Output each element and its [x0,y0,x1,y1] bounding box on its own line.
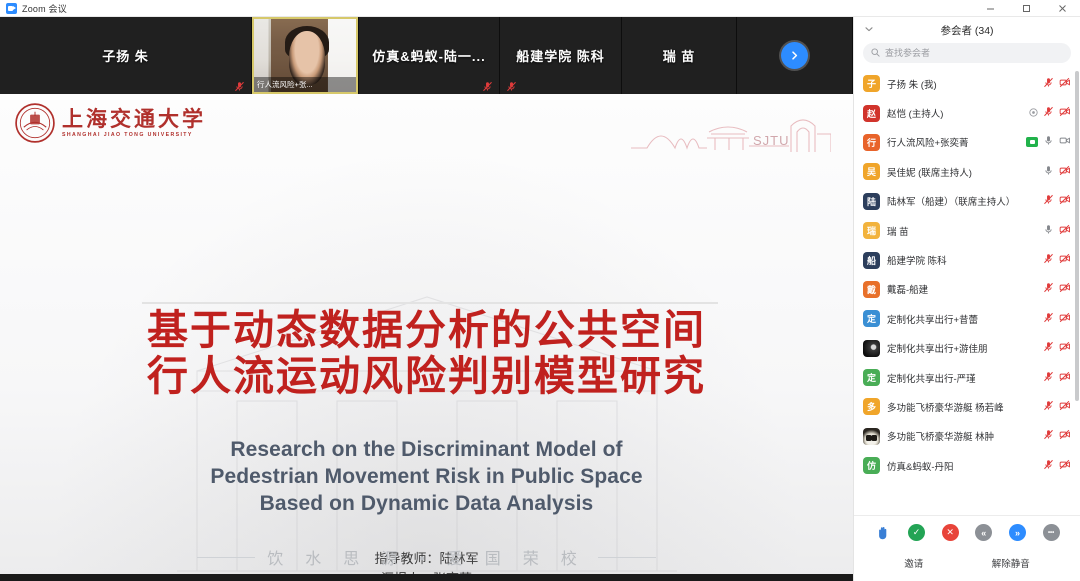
reaction-buttons: ✓✕«»••• [854,524,1080,541]
video-strip-next-page[interactable] [737,17,853,94]
slide-title-en-line1: Research on the Discriminant Model of [0,437,853,464]
participant-name: 陆林军（船建）（联席主持人） [887,194,1036,208]
video-off-icon[interactable] [1059,398,1071,416]
video-tile[interactable]: 船建学院 陈科 [500,17,622,94]
participant-name: 定制化共享出行+昔蕾 [887,312,1036,326]
unmute-all-button[interactable]: 解除静音 [986,554,1036,572]
video-tile[interactable]: 仿真&蚂蚁-陆一... [359,17,500,94]
video-tile-name: 子扬 朱 [102,46,149,65]
participant-name: 戴磊-船建 [887,282,1036,296]
participants-search [854,43,1080,69]
shared-screen-slide: 上海交通大学 SHANGHAI JIAO TONG UNIVERSITY SJT… [0,94,853,581]
host-indicator-icon [1029,104,1038,122]
participant-avatar: 多 [863,398,880,415]
no-button[interactable]: ✕ [942,524,959,541]
participant-row[interactable]: 定定制化共享出行-严瑾 [854,363,1080,392]
participant-row[interactable]: 行行人流风险+张奕菁 [854,128,1080,157]
chevron-right-icon[interactable] [781,42,808,69]
video-off-icon[interactable] [1059,427,1071,445]
screen-share-icon [1026,137,1038,147]
sjtu-logo-en: SHANGHAI JIAO TONG UNIVERSITY [62,132,206,138]
video-tile-active-speaker[interactable]: 行人流风险+张... [252,17,359,94]
slide-title-cn: 基于动态数据分析的公共空间 行人流运动风险判别模型研究 [0,308,853,400]
participant-row[interactable]: 定定制化共享出行+昔蕾 [854,304,1080,333]
window-title: Zoom 会议 [22,2,67,15]
svg-text:SJTU: SJTU [753,133,790,148]
participant-name: 赵恺 (主持人) [887,106,1022,120]
motto-text: 饮 水 思 源 • 爱 国 荣 校 [267,545,586,569]
participant-name: 瑞 苗 [887,224,1036,238]
video-off-icon[interactable] [1059,457,1071,475]
mic-muted-icon[interactable] [1043,457,1054,475]
zoom-meeting-window: Zoom 会议 子扬 朱 [0,0,1080,581]
mic-muted-icon[interactable] [1043,104,1054,122]
more-button[interactable]: ••• [1043,524,1060,541]
participant-name: 吴佳妮 (联席主持人) [887,165,1036,179]
video-tile-name: 行人流风险+张... [254,77,356,92]
mic-muted-icon [234,79,245,90]
participant-row[interactable]: 陆陆林军（船建）（联席主持人） [854,187,1080,216]
participant-name: 船建学院 陈科 [887,253,1036,267]
search-icon [871,44,880,62]
faster-button[interactable]: » [1009,524,1026,541]
mic-muted-icon[interactable] [1043,369,1054,387]
slower-button[interactable]: « [975,524,992,541]
mic-muted-icon[interactable] [1043,398,1054,416]
participants-scrollbar[interactable] [1075,71,1079,401]
participant-name: 多功能飞桥豪华游艇 林肿 [887,429,1036,443]
participant-avatar: 子 [863,75,880,92]
maximize-button[interactable] [1008,0,1044,17]
mic-muted-icon[interactable] [1043,75,1054,93]
mic-on-icon[interactable] [1043,133,1054,151]
video-off-icon[interactable] [1059,192,1071,210]
mic-muted-icon[interactable] [1043,280,1054,298]
search-input[interactable] [885,48,1063,58]
slide-title-cn-line2: 行人流运动风险判别模型研究 [0,354,853,400]
video-tile[interactable]: 瑞 苗 [622,17,737,94]
participant-row[interactable]: 船船建学院 陈科 [854,245,1080,274]
video-tile[interactable]: 子扬 朱 [0,17,252,94]
sjtu-seal-icon [14,102,56,144]
participant-row[interactable]: 仿仿真&蚂蚁-丹阳 [854,451,1080,480]
mic-muted-icon[interactable] [1043,310,1054,328]
slide-building-watermark [77,251,777,581]
participant-avatar: 行 [863,134,880,151]
participant-name: 定制化共享出行+游佳朋 [887,341,1036,355]
participant-avatar: 定 [863,310,880,327]
participant-name: 定制化共享出行-严瑾 [887,371,1036,385]
minimize-button[interactable] [972,0,1008,17]
zoom-icon [6,3,17,14]
participant-avatar: 船 [863,252,880,269]
participants-panel-title: 参会者 (34) [854,23,1080,38]
video-tile-name: 瑞 苗 [663,46,696,65]
participant-row[interactable]: 子子扬 朱 (我) [854,69,1080,98]
mic-muted-icon[interactable] [1043,251,1054,269]
participant-row[interactable]: 瑞瑞 苗 [854,216,1080,245]
slide-title-cn-line1: 基于动态数据分析的公共空间 [0,308,853,354]
chevron-down-icon[interactable] [864,21,874,39]
title-divider [142,302,718,304]
participants-panel: 参会者 (34) 子子扬 朱 (我)赵赵恺 (主持人)行行人流风险+张奕菁吴吴佳… [853,17,1080,581]
video-off-icon[interactable] [1059,163,1071,181]
participant-avatar: 陆 [863,193,880,210]
video-off-icon[interactable] [1059,75,1071,93]
participant-name: 行人流风险+张奕菁 [887,135,1019,149]
video-off-icon[interactable] [1059,104,1071,122]
yes-button[interactable]: ✓ [908,524,925,541]
participant-avatar: 戴 [863,281,880,298]
participant-row[interactable]: 多多功能飞桥豪华游艇 杨若峰 [854,392,1080,421]
participant-name: 仿真&蚂蚁-丹阳 [887,459,1036,473]
mic-muted-icon [506,79,517,90]
participant-avatar [863,428,880,445]
participant-avatar: 吴 [863,163,880,180]
window-title-bar: Zoom 会议 [0,0,1080,17]
video-on-icon[interactable] [1059,133,1071,151]
participants-list[interactable]: 子子扬 朱 (我)赵赵恺 (主持人)行行人流风险+张奕菁吴吴佳妮 (联席主持人)… [854,69,1080,516]
mic-on-icon[interactable] [1043,163,1054,181]
motto-divider-right [598,557,656,558]
sjtu-logo: 上海交通大学 SHANGHAI JIAO TONG UNIVERSITY [14,102,206,144]
slide-title-en: Research on the Discriminant Model of Pe… [0,437,853,518]
search-box[interactable] [863,43,1071,63]
slide-bottom-bar [0,574,853,581]
participant-name: 多功能飞桥豪华游艇 杨若峰 [887,400,1036,414]
slide-title-en-line2: Pedestrian Movement Risk in Public Space [0,464,853,491]
invite-button[interactable]: 邀请 [898,554,929,572]
slide-title-en-line3: Based on Dynamic Data Analysis [0,491,853,518]
video-off-icon[interactable] [1059,369,1071,387]
video-thumbnail-strip: 子扬 朱 行人流风险+张... 仿真&蚂蚁-陆一... [0,17,853,94]
mic-muted-icon[interactable] [1043,339,1054,357]
participants-panel-header: 参会者 (34) [854,17,1080,43]
participant-avatar: 瑞 [863,222,880,239]
mic-on-icon[interactable] [1043,222,1054,240]
sjtu-landmark-art: SJTU [631,108,831,156]
participant-name: 子扬 朱 (我) [887,77,1036,91]
video-off-icon[interactable] [1059,310,1071,328]
video-off-icon[interactable] [1059,339,1071,357]
participant-avatar: 定 [863,369,880,386]
participant-row[interactable]: 定制化共享出行+游佳朋 [854,334,1080,363]
participant-row[interactable]: 赵赵恺 (主持人) [854,98,1080,127]
mic-muted-icon [482,79,493,90]
close-button[interactable] [1044,0,1080,17]
slide-footer-motto: 饮 水 思 源 • 爱 国 荣 校 [0,545,853,569]
mic-muted-icon[interactable] [1043,427,1054,445]
sjtu-logo-cn: 上海交通大学 [62,108,206,130]
participant-row[interactable]: 吴吴佳妮 (联席主持人) [854,157,1080,186]
participant-video: 行人流风险+张... [252,17,358,94]
participant-row[interactable]: 多功能飞桥豪华游艇 林肿 [854,422,1080,451]
raise-hand-button[interactable] [874,524,891,541]
participant-row[interactable]: 戴戴磊-船建 [854,275,1080,304]
video-off-icon[interactable] [1059,222,1071,240]
participant-avatar [863,340,880,357]
video-off-icon[interactable] [1059,280,1071,298]
participants-panel-footer: ✓✕«»••• 邀请 解除静音 [854,516,1080,581]
video-off-icon[interactable] [1059,251,1071,269]
video-tile-name: 船建学院 陈科 [516,46,605,65]
video-tile-name: 仿真&蚂蚁-陆一... [372,46,486,65]
motto-divider-left [197,557,255,558]
participant-avatar: 赵 [863,105,880,122]
mic-muted-icon[interactable] [1043,192,1054,210]
participant-avatar: 仿 [863,457,880,474]
